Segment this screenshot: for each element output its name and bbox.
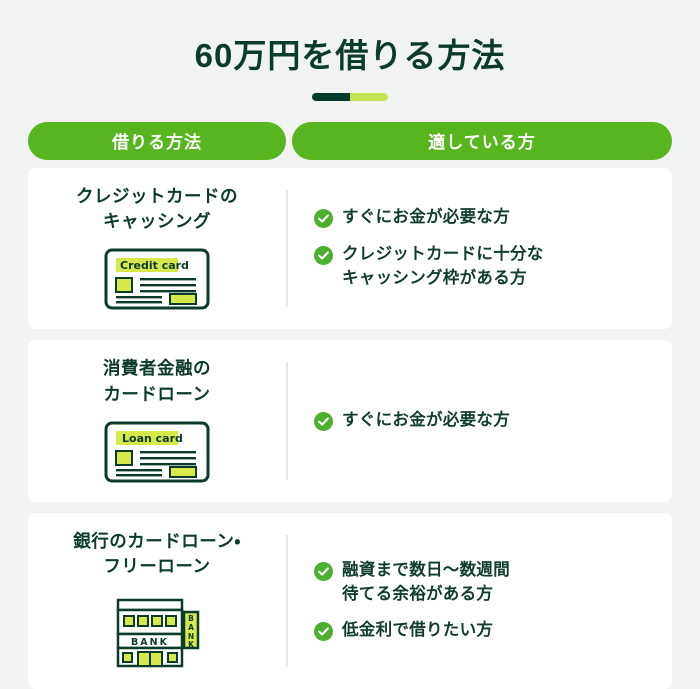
row-method-cell: クレジットカードの キャッシング Credit card (28, 168, 286, 330)
method-title-line-1: クレジットカードの (76, 184, 238, 209)
list-item-text: すぐにお金が必要な方 (342, 206, 510, 230)
list-item-text: クレジットカードに十分な キャッシング枠がある方 (342, 243, 544, 291)
row-target-cell: すぐにお金が必要な方 (288, 340, 672, 502)
list-item: すぐにお金が必要な方 (314, 206, 658, 230)
row-target-cell: 融資まで数日〜数週間 待てる余裕がある方 低金利で借りたい方 (288, 513, 672, 689)
credit-card-illustration: Credit card (104, 248, 210, 315)
table-row: 消費者金融の カードローン Loan card (28, 340, 672, 502)
method-title: 消費者金融の カードローン (103, 356, 211, 407)
method-title-line-2: キャッシング (76, 209, 238, 234)
list-item: 低金利で借りたい方 (314, 619, 658, 643)
list-item-text: すぐにお金が必要な方 (342, 409, 510, 433)
svg-text:A: A (188, 623, 194, 632)
list-item-text-line-1: 融資まで数日〜数週間 (342, 559, 510, 583)
method-title-line-2: カードローン (103, 382, 211, 407)
row-method-cell: 消費者金融の カードローン Loan card (28, 340, 286, 502)
row-target-cell: すぐにお金が必要な方 クレジットカードに十分な キャッシング枠がある方 (288, 168, 672, 330)
credit-card-label: Credit card (120, 259, 189, 272)
method-title-line-2: フリーローン (73, 554, 241, 579)
method-title: 銀行のカードローン・ フリーローン (73, 529, 241, 580)
title-accent-bar (312, 93, 388, 101)
loan-card-illustration: Loan card (104, 421, 210, 488)
check-circle-icon (314, 246, 333, 265)
column-header-target: 適している方 (292, 122, 672, 160)
check-circle-icon (314, 562, 333, 581)
list-item-text: 低金利で借りたい方 (342, 619, 493, 643)
list-item: すぐにお金が必要な方 (314, 409, 658, 433)
bank-sign-label: BANK (131, 637, 169, 648)
method-title-line-1: 消費者金融の (103, 356, 211, 381)
infographic-page: 60万円を借りる方法 借りる方法 適している方 クレジットカードの キャッシング (0, 0, 700, 686)
list-item-text: 融資まで数日〜数週間 待てる余裕がある方 (342, 559, 510, 607)
loan-card-label: Loan card (122, 432, 183, 445)
check-circle-icon (314, 412, 333, 431)
method-title-line-1: 銀行のカードローン・ (73, 529, 241, 554)
list-item-text-line-2: キャッシング枠がある方 (342, 267, 544, 291)
row-method-cell: 銀行のカードローン・ フリーローン B (28, 513, 286, 689)
table-row: クレジットカードの キャッシング Credit card (28, 168, 672, 330)
check-circle-icon (314, 622, 333, 641)
check-circle-icon (314, 209, 333, 228)
list-item-text-line-1: クレジットカードに十分な (342, 243, 544, 267)
column-header-row: 借りる方法 適している方 (0, 122, 700, 160)
list-item-text-line-2: 待てる余裕がある方 (342, 583, 510, 607)
page-title: 60万円を借りる方法 (0, 36, 700, 76)
bank-vertical-sign-label: B (188, 614, 194, 623)
bank-building-illustration: BANK B A N K (108, 594, 206, 675)
list-item: クレジットカードに十分な キャッシング枠がある方 (314, 243, 658, 291)
comparison-table: クレジットカードの キャッシング Credit card (0, 168, 700, 689)
title-block: 60万円を借りる方法 (0, 0, 700, 101)
method-title: クレジットカードの キャッシング (76, 184, 238, 235)
accent-bar-dark-half (312, 93, 350, 101)
accent-bar-lime-half (350, 93, 388, 101)
list-item: 融資まで数日〜数週間 待てる余裕がある方 (314, 559, 658, 607)
column-header-method: 借りる方法 (28, 122, 286, 160)
table-row: 銀行のカードローン・ フリーローン B (28, 513, 672, 689)
